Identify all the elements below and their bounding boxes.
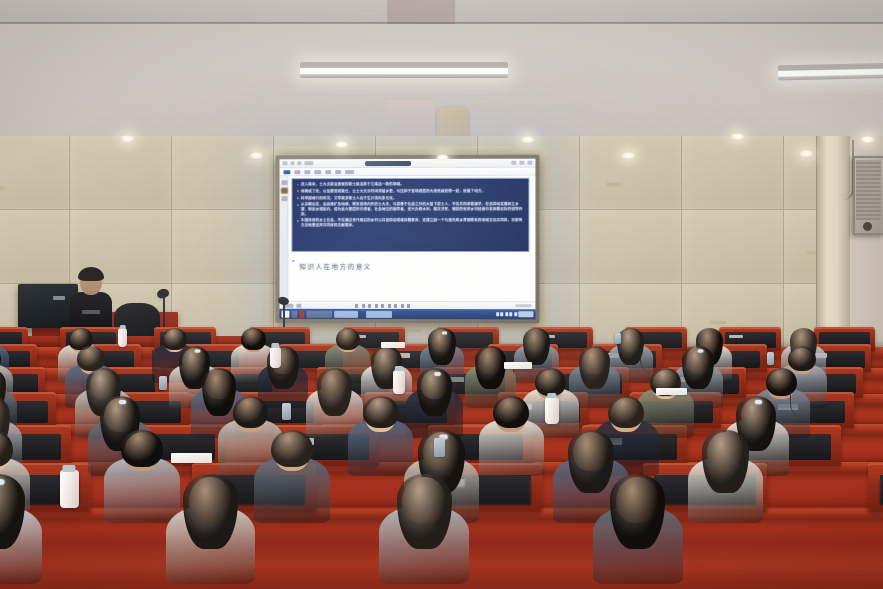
microphone-stand: [163, 295, 165, 331]
notes-icon[interactable]: [381, 303, 384, 307]
audience-member-hair: [475, 346, 506, 389]
slide-canvas[interactable]: 进入南宋，士大夫政治造就的新士族活跃于江南这一新的场域。 待阙或丁忧，以及罢官或…: [289, 177, 531, 299]
tab-file[interactable]: [283, 170, 290, 174]
lecturer-shirt-print: [82, 310, 100, 314]
audience-member-hair: [271, 430, 312, 467]
smartphone: [615, 333, 621, 345]
audience-member: [693, 430, 778, 515]
audience-member: [599, 474, 701, 576]
hair-clip: [0, 479, 4, 485]
ime-icon[interactable]: [509, 312, 512, 316]
lecture-hall-photo: 进入南宋，士大夫政治造就的新士族活跃于江南这一新的场域。 待阙或丁忧，以及罢官或…: [0, 0, 883, 589]
taskbar-button-recorder[interactable]: [306, 310, 332, 317]
ceiling-downlight: [861, 136, 874, 143]
ceiling-drop-column: [388, 100, 433, 136]
projection-screen-surface[interactable]: 进入南宋，士大夫政治造就的新士族活跃于江南这一新的场域。 待阙或丁忧，以及罢官或…: [280, 159, 536, 320]
view-slideshow-icon[interactable]: [375, 303, 378, 307]
audience-member-hair: [336, 328, 360, 350]
audience-member: [0, 474, 59, 576]
taskbar-button-explorer[interactable]: [366, 310, 392, 317]
volume-icon[interactable]: [500, 312, 503, 316]
slide-bullet-textbox[interactable]: 进入南宋，士大夫政治造就的新士族活跃于江南这一新的场域。 待阙或丁忧，以及罢官或…: [291, 178, 529, 252]
monitor-brand-logo: [53, 296, 65, 300]
speaker-grille: [856, 160, 881, 220]
seat-back: [868, 463, 883, 512]
fluorescent-tube-light: [778, 63, 883, 81]
view-mode-buttons[interactable]: [355, 303, 410, 307]
view-normal-icon[interactable]: [355, 303, 358, 307]
slide-bullet-4: 从京朝出发，由血缘扩及地缘，联系官场内外的士大夫，与游移于仕途之外的大量下层士人…: [296, 202, 525, 216]
save-icon[interactable]: [282, 161, 287, 165]
audience-member-hair: [397, 474, 452, 549]
ceiling-downlight: [622, 152, 635, 159]
close-icon[interactable]: [527, 161, 532, 165]
water-bottle: [270, 347, 281, 368]
taskbar-button-powerpoint[interactable]: [334, 310, 358, 317]
comments-icon[interactable]: [388, 303, 391, 307]
slide-thumbnail-pane[interactable]: [280, 176, 289, 301]
ceiling-downlight: [250, 152, 263, 159]
search-icon[interactable]: [291, 310, 297, 317]
wall-panel: [682, 136, 784, 210]
audience-member-hair: [788, 346, 816, 371]
slide-title: 知识人在地方的意义: [299, 261, 372, 271]
tab-animations[interactable]: [335, 170, 341, 174]
redo-icon[interactable]: [297, 161, 301, 165]
ceiling-downlight: [731, 133, 744, 140]
ceiling-downlight: [521, 136, 534, 143]
notebook-paper: [381, 342, 405, 348]
wall-panel: [682, 210, 784, 284]
audience-member-hair: [317, 368, 352, 416]
slide-bullet-2: 待阙或丁忧，以及罢官或致仕，让士大夫长时间滞留乡里，与压抑于官场底层的大批低级官…: [296, 189, 525, 194]
notebook-paper: [656, 388, 687, 395]
restore-icon[interactable]: [519, 161, 524, 165]
lecturer: [70, 269, 112, 327]
audience-member-hair: [535, 368, 566, 396]
tab-transitions[interactable]: [325, 170, 331, 174]
hair-clip: [434, 372, 440, 376]
zoom-out-icon[interactable]: [394, 303, 397, 307]
audience-member: [468, 346, 525, 403]
water-bottle: [60, 470, 79, 508]
audience-member-hair: [121, 430, 162, 467]
wall-panel: [0, 210, 70, 284]
hair-clip: [442, 331, 447, 334]
bottle-cap: [272, 343, 279, 347]
audience-member-hair: [523, 328, 550, 365]
ceiling-downlight: [436, 154, 449, 161]
notification-icon[interactable]: [514, 312, 517, 316]
slide-bullet-3: 科举越难行的状况，又导致多数士人出于生计流向多元化。: [296, 195, 525, 200]
ceiling-duct: [387, 0, 455, 24]
water-bottle: [545, 397, 559, 424]
lecturer-hair: [78, 267, 104, 281]
wall-panel: [172, 136, 274, 210]
window-controls[interactable]: [511, 161, 532, 165]
wall-panel: [172, 210, 274, 284]
projection-screen-frame: 进入南宋，士大夫政治造就的新士族活跃于江南这一新的场域。 待阙或丁忧，以及罢官或…: [276, 155, 540, 324]
wall-smudge: [807, 251, 815, 254]
water-bottle: [118, 328, 127, 347]
taskbar-clock[interactable]: [518, 311, 533, 317]
wall-smudge: [0, 187, 4, 190]
recording-indicator-icon[interactable]: [299, 310, 304, 317]
fit-slide-icon[interactable]: [407, 304, 410, 308]
bottle-cap: [395, 366, 403, 371]
bottle-cap: [547, 393, 556, 398]
quick-access-more-icon[interactable]: [304, 161, 313, 165]
audience-member-hair: [233, 396, 269, 428]
hair-clip: [194, 350, 200, 353]
audience-member: [171, 474, 273, 576]
wall-smudge: [406, 329, 421, 332]
ceiling-downlight: [121, 135, 134, 142]
undo-icon[interactable]: [290, 161, 294, 165]
audience-member-hair: [183, 474, 238, 549]
slide-thumbnail-current[interactable]: [281, 188, 287, 193]
zoom-slider[interactable]: [515, 304, 531, 307]
bottle-cap: [63, 465, 76, 472]
audience-member: [385, 474, 487, 576]
slide-bullet-5: 中国传统的乡土社会，不仅通过世代相沿的乡村公共信仰创或维持着秩序，还建立起一个与…: [296, 218, 525, 227]
wall-smudge: [606, 183, 621, 186]
notebook-paper: [171, 453, 212, 463]
slide-bullet-list: 进入南宋，士大夫政治造就的新士族活跃于江南这一新的场域。 待阙或丁忧，以及罢官或…: [296, 182, 525, 228]
audience-member-hair: [77, 346, 105, 371]
tab-insert[interactable]: [304, 170, 310, 174]
tab-slideshow[interactable]: [345, 170, 354, 174]
audience-member-hair: [608, 396, 644, 428]
ceiling-downlight: [335, 141, 348, 148]
wall-smudge: [710, 321, 726, 324]
wall-panel: [0, 136, 70, 210]
podium-monitor: [18, 284, 78, 328]
wall-panel: [70, 136, 172, 210]
speaker-driver: [863, 222, 872, 231]
smartphone: [159, 376, 167, 391]
slide-bullet-1: 进入南宋，士大夫政治造就的新士族活跃于江南这一新的场域。: [296, 182, 525, 187]
zoom-in-icon[interactable]: [401, 303, 404, 307]
window-title: [365, 160, 411, 165]
windows-taskbar[interactable]: [280, 309, 536, 320]
audience-member-hair: [363, 396, 399, 428]
smartphone: [282, 403, 291, 420]
system-tray[interactable]: [496, 311, 534, 317]
minimize-icon[interactable]: [511, 161, 516, 165]
view-reading-icon[interactable]: [368, 303, 371, 307]
hair-clip: [119, 400, 126, 404]
tab-home[interactable]: [294, 170, 300, 174]
notebook-paper: [504, 362, 532, 369]
audience-member-hair: [493, 396, 529, 428]
smartphone: [767, 352, 774, 365]
language-label: [296, 303, 301, 307]
wall-panel: [580, 210, 682, 284]
water-bottle: [393, 370, 405, 394]
audience-member-hair: [702, 430, 748, 493]
slide-title-bullet-icon: [292, 260, 294, 262]
tab-design[interactable]: [314, 170, 321, 174]
view-sorter-icon[interactable]: [362, 303, 365, 307]
smartphone: [434, 438, 445, 458]
battery-icon[interactable]: [505, 312, 508, 316]
slide-thumbnail[interactable]: [281, 180, 287, 185]
ceiling-downlight: [800, 150, 813, 157]
audience-member-hair: [610, 474, 665, 549]
wall-panel: [580, 136, 682, 210]
seat-cushion: [880, 475, 883, 506]
network-icon[interactable]: [496, 312, 499, 316]
powerpoint-window[interactable]: 进入南宋，士大夫政治造就的新士族活跃于江南这一新的场域。 待阙或丁忧，以及罢官或…: [280, 159, 536, 320]
fluorescent-tube-light: [300, 62, 508, 78]
slide-editing-stage[interactable]: 进入南宋，士大夫政治造就的新士族活跃于江南这一新的场域。 待阙或丁忧，以及罢官或…: [280, 176, 536, 301]
bottle-cap: [119, 325, 125, 329]
slide-thumbnail[interactable]: [281, 196, 287, 201]
